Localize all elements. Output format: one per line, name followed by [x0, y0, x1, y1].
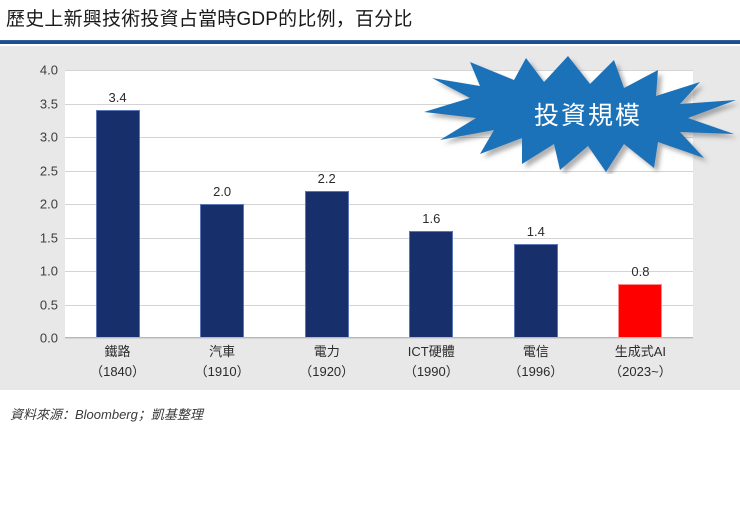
source-footnote: 資料來源：Bloomberg；凱基整理: [10, 404, 203, 423]
category-name: ICT硬體: [408, 344, 455, 359]
category-name: 生成式AI: [615, 344, 666, 359]
category-year: （1996）: [484, 362, 588, 382]
page-title: 歷史上新興技術投資占當時GDP的比例，百分比: [6, 4, 413, 31]
category-year: （1990）: [379, 362, 483, 382]
bar-slot: 2.2: [275, 70, 379, 338]
starburst-callout: 投資規模: [418, 54, 740, 174]
chart-panel: 3.42.02.21.61.40.8 投資規模 0.00.51.01.52.02…: [0, 46, 740, 390]
bar[interactable]: [96, 110, 140, 338]
bar[interactable]: [200, 204, 244, 338]
category-year: （2023~）: [588, 362, 692, 382]
bar-slot: 2.0: [170, 70, 274, 338]
axis-baseline: [65, 337, 693, 338]
category-name: 電信: [523, 344, 549, 359]
category-year: （1840）: [66, 362, 170, 382]
x-axis-category-label: 電信（1996）: [484, 342, 588, 382]
bar-value-label: 1.6: [379, 211, 483, 226]
y-axis-tick-label: 3.0: [2, 130, 58, 145]
bar[interactable]: [305, 191, 349, 338]
gridline: [65, 338, 693, 339]
bar[interactable]: [618, 284, 662, 338]
bar-value-label: 0.8: [588, 264, 692, 279]
bar[interactable]: [409, 231, 453, 338]
y-axis-tick-label: 1.0: [2, 264, 58, 279]
bar-value-label: 2.2: [275, 171, 379, 186]
y-axis-tick-label: 3.5: [2, 96, 58, 111]
x-axis-category-label: 電力（1920）: [275, 342, 379, 382]
bar-value-label: 1.4: [484, 224, 588, 239]
title-divider: [0, 40, 740, 44]
y-axis-tick-label: 1.5: [2, 230, 58, 245]
bar-value-label: 2.0: [170, 184, 274, 199]
y-axis-tick-label: 2.5: [2, 163, 58, 178]
category-year: （1910）: [170, 362, 274, 382]
starburst-icon: [418, 54, 740, 174]
y-axis-tick-label: 0.5: [2, 297, 58, 312]
x-axis-category-label: 生成式AI（2023~）: [588, 342, 692, 382]
y-axis-tick-label: 2.0: [2, 197, 58, 212]
category-name: 鐵路: [105, 344, 131, 359]
category-year: （1920）: [275, 362, 379, 382]
category-name: 汽車: [209, 344, 235, 359]
x-axis-category-label: 鐵路（1840）: [66, 342, 170, 382]
bar[interactable]: [514, 244, 558, 338]
bar-value-label: 3.4: [66, 90, 170, 105]
x-axis-category-label: 汽車（1910）: [170, 342, 274, 382]
y-axis-tick-label: 4.0: [2, 63, 58, 78]
y-axis-tick-label: 0.0: [2, 331, 58, 346]
category-name: 電力: [314, 344, 340, 359]
x-axis-category-label: ICT硬體（1990）: [379, 342, 483, 382]
bar-slot: 3.4: [66, 70, 170, 338]
